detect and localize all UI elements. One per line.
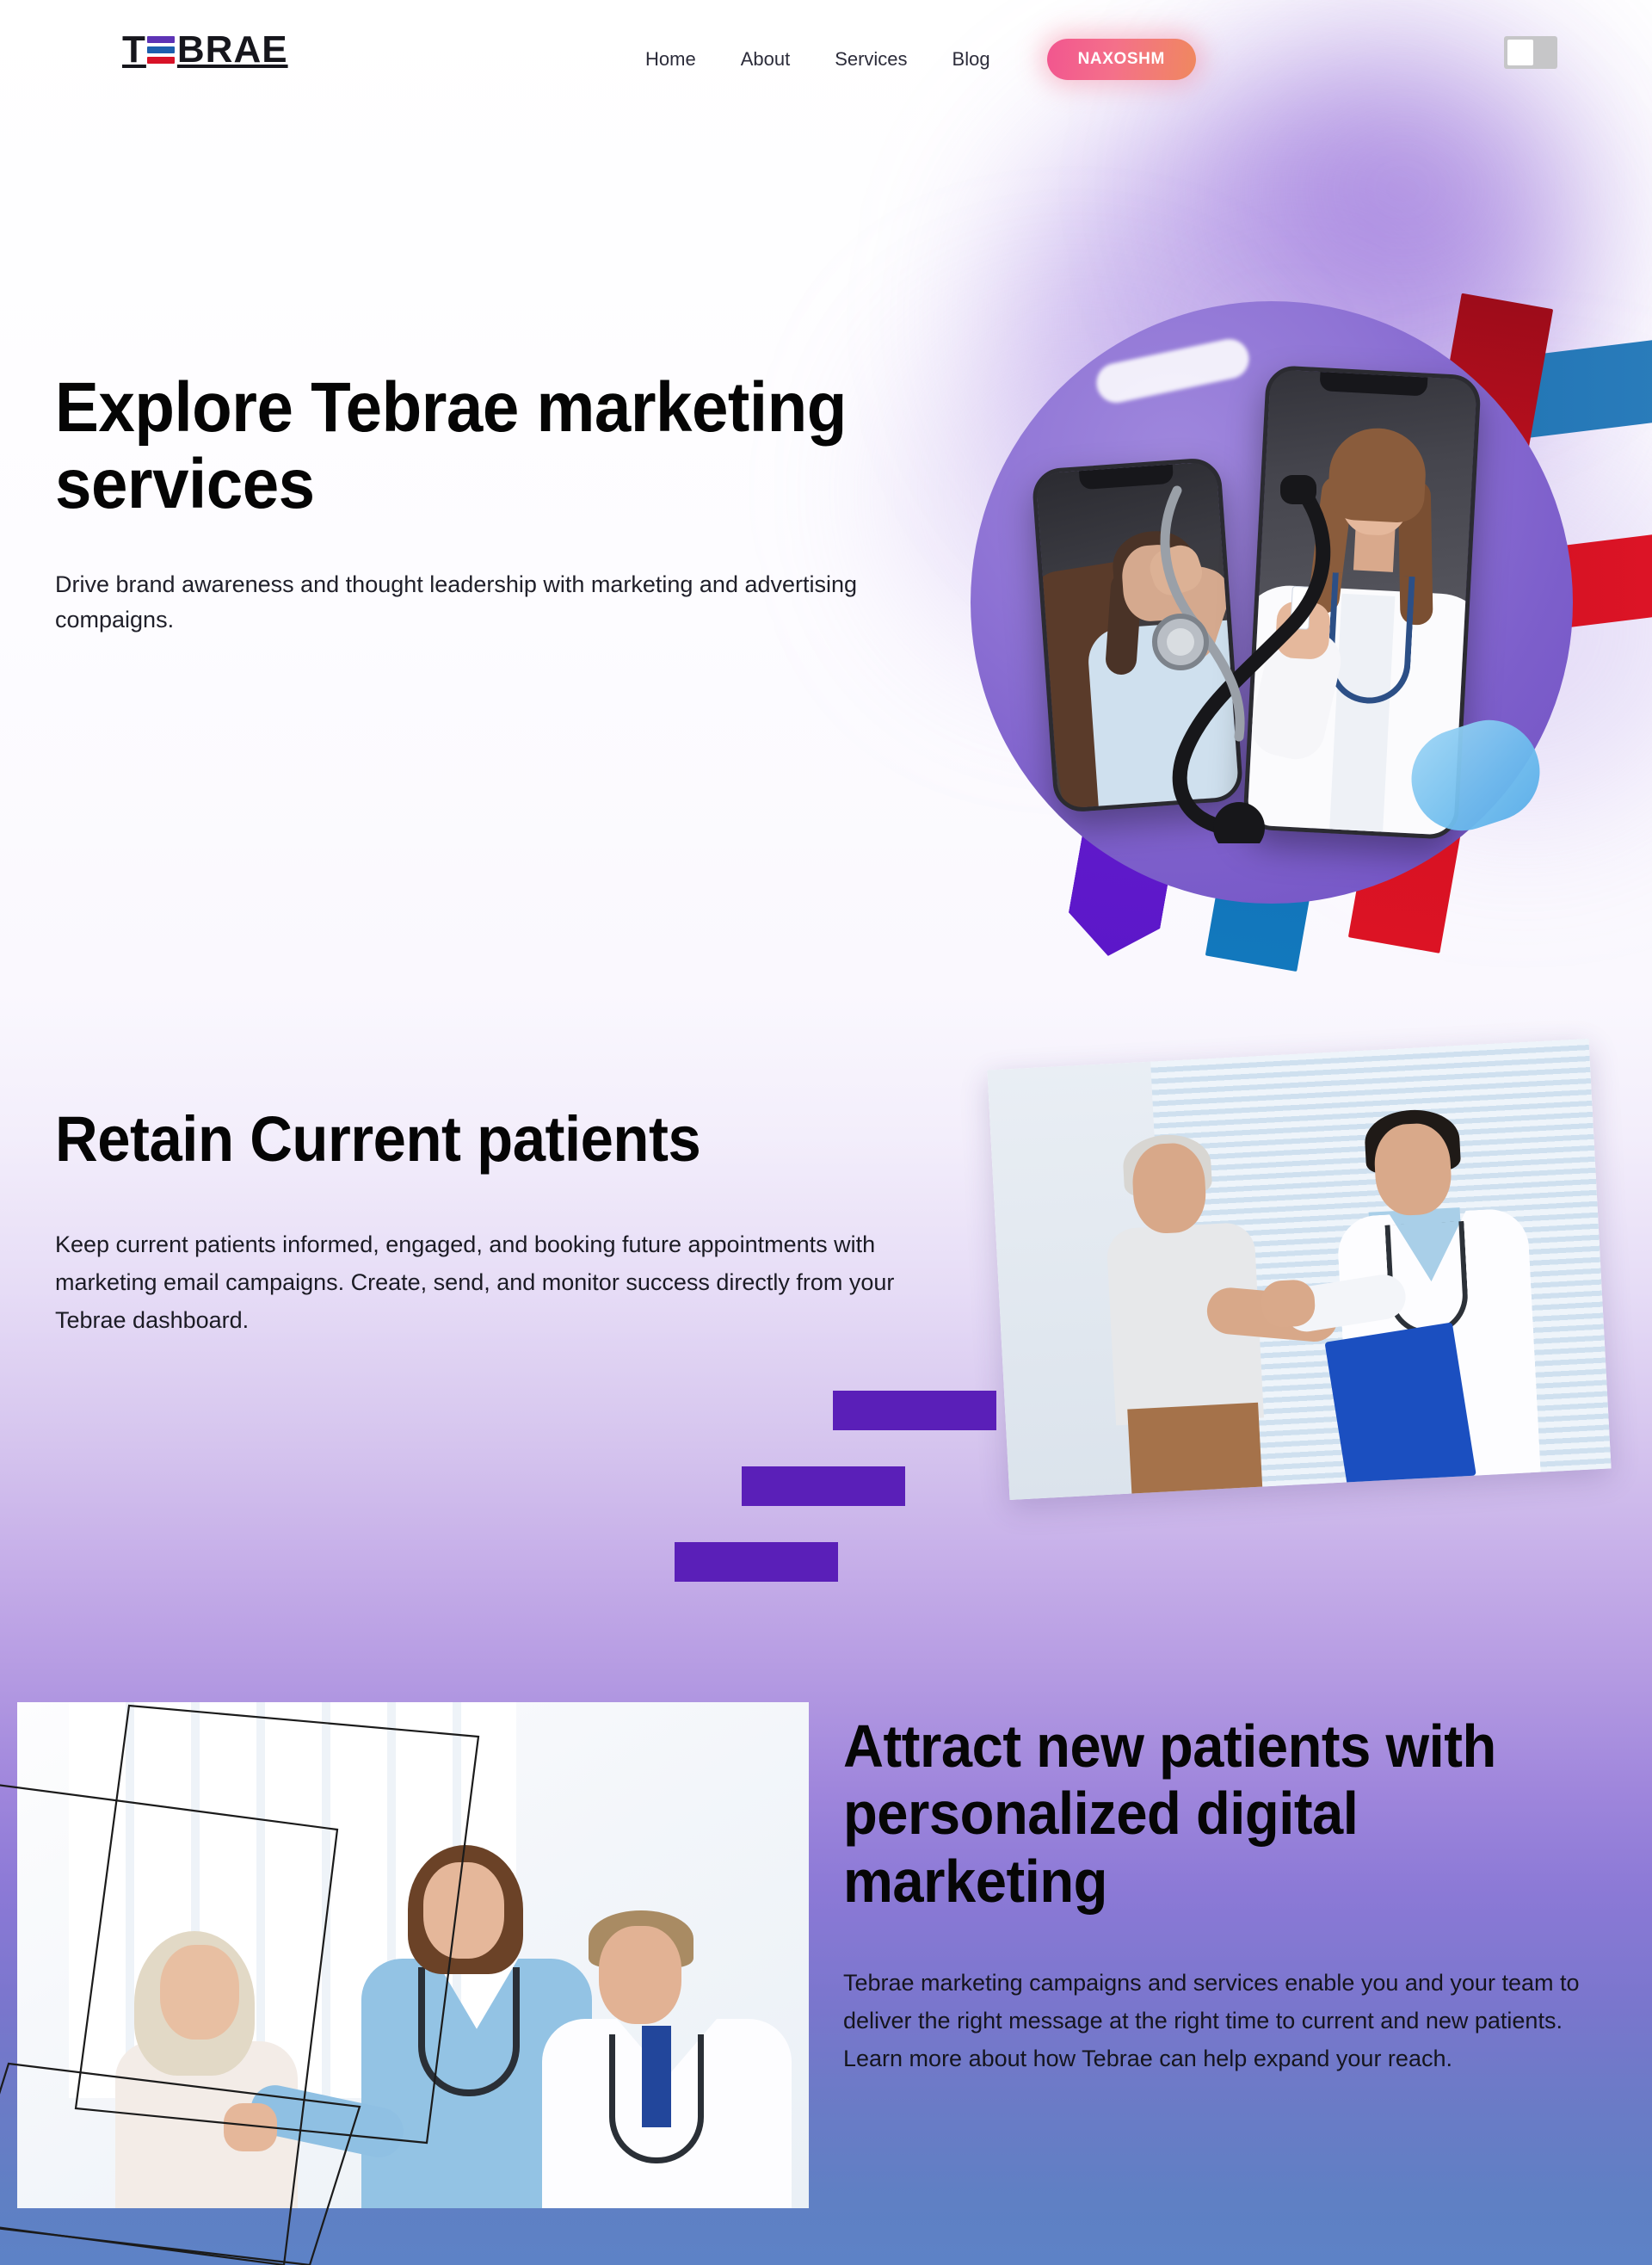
- logo-text-before: T: [122, 31, 146, 69]
- doctor-figure: [1335, 1108, 1551, 1482]
- attract-body: Tebrae marketing campaigns and services …: [843, 1965, 1626, 2077]
- nav-item-blog[interactable]: Blog: [952, 48, 990, 71]
- naxoshm-cta-button[interactable]: NAXOSHM: [1047, 39, 1196, 80]
- attract-title: Attract new patients with personalized d…: [843, 1713, 1580, 1915]
- patient-figure: [1036, 461, 1240, 809]
- retain-title: Retain Current patients: [55, 1106, 943, 1173]
- phone-patient: [1031, 457, 1243, 813]
- clinic-consultation-photo: [17, 1702, 809, 2208]
- landing-page: T BRAE Home About Services Blog NAXOSHM …: [0, 0, 1652, 2265]
- doctor-figure: [542, 1917, 800, 2208]
- logo-tebrae[interactable]: T BRAE: [122, 31, 288, 69]
- accent-bar-1: [833, 1391, 996, 1430]
- main-navigation: Home About Services Blog NAXOSHM: [645, 39, 1196, 80]
- logo-bars-icon: [147, 33, 175, 67]
- accent-bar-3: [675, 1542, 838, 1582]
- retain-body: Keep current patients informed, engaged,…: [55, 1226, 967, 1339]
- retain-patients-section: Retain Current patients Keep current pat…: [55, 1106, 1010, 1340]
- header-toggle-switch[interactable]: [1504, 36, 1557, 69]
- patient-figure: [112, 1945, 310, 2208]
- accent-bar-2: [742, 1466, 905, 1506]
- logo-text-after: BRAE: [177, 31, 288, 69]
- hero-illustration: [946, 250, 1652, 1110]
- hero-title: Explore Tebrae marketing services: [55, 370, 879, 522]
- hero-section: Explore Tebrae marketing services Drive …: [55, 370, 941, 637]
- toggle-knob: [1507, 40, 1533, 65]
- attract-patients-section: Attract new patients with personalized d…: [843, 1713, 1635, 2077]
- hero-subtitle: Drive brand awareness and thought leader…: [55, 567, 924, 637]
- site-header: T BRAE Home About Services Blog NAXOSHM: [0, 0, 1652, 112]
- senior-patient-figure: [1101, 1139, 1283, 1494]
- nav-item-about[interactable]: About: [741, 48, 791, 71]
- nav-item-home[interactable]: Home: [645, 48, 696, 71]
- nav-item-services[interactable]: Services: [835, 48, 907, 71]
